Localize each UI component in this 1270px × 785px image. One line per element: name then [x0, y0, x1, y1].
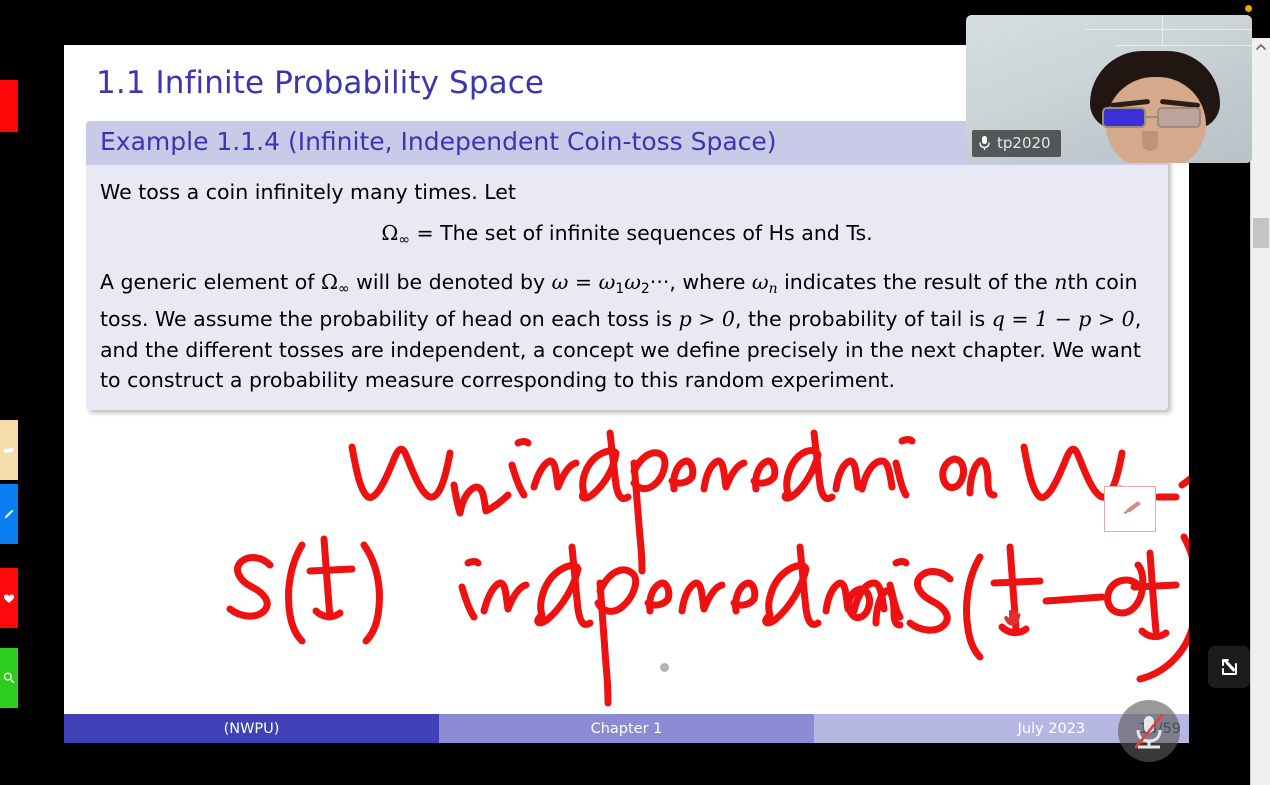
pen-in-frame-icon — [1217, 655, 1241, 679]
scrollbar-thumb[interactable] — [1253, 218, 1269, 248]
para-part-1: A generic element of — [100, 270, 321, 294]
example-body: We toss a coin infinitely many times. Le… — [86, 165, 1168, 410]
example-line-1: We toss a coin infinitely many times. Le… — [100, 177, 1154, 208]
participant-name-label: tp2020 — [997, 134, 1051, 152]
footer-institution: (NWPU) — [64, 714, 439, 743]
para-part-4: indicates the result of the — [778, 270, 1055, 294]
left-tool-rail — [0, 0, 18, 785]
page-title: 1.1 Infinite Probability Space — [96, 65, 544, 101]
omega-symbol: Ω — [381, 221, 398, 245]
omega-n-sub: n — [769, 281, 778, 297]
example-paragraph: A generic element of Ω∞ will be denoted … — [100, 267, 1154, 396]
omega-inline-subscript: ∞ — [338, 281, 350, 297]
omega-equation-rest: = The set of infinite sequences of Hs an… — [410, 221, 873, 245]
eraser-icon — [2, 443, 16, 457]
eraser-tool[interactable] — [0, 420, 18, 480]
omega-eq: ω = ω — [552, 270, 616, 294]
ceiling-line-3 — [1162, 15, 1163, 45]
ellipsis: ··· — [650, 270, 670, 294]
magnifier-icon — [2, 671, 16, 685]
footer-chapter: Chapter 1 — [439, 714, 814, 743]
vertical-scrollbar[interactable] — [1250, 38, 1270, 785]
recording-indicator — [1245, 5, 1252, 12]
hand-cursor — [1000, 604, 1026, 630]
p-greater-zero: p > 0 — [679, 307, 735, 331]
glasses-lens-right — [1157, 107, 1201, 128]
favorite-tool[interactable] — [0, 568, 18, 628]
pen-preview-box[interactable] — [1104, 486, 1156, 532]
omega-equation: Ω∞ = The set of infinite sequences of Hs… — [100, 218, 1154, 255]
slide-footer: (NWPU) Chapter 1 July 2023 13/59 — [64, 714, 1189, 743]
para-part-6: , the probability of tail is — [735, 307, 992, 331]
scroll-up-button[interactable] — [1251, 38, 1270, 56]
zoom-tool[interactable] — [0, 648, 18, 708]
person-glasses — [1102, 107, 1212, 129]
ink-dot-artifact — [660, 663, 669, 672]
footer-date: July 2023 — [1018, 721, 1086, 737]
example-block: Example 1.1.4 (Infinite, Independent Coi… — [86, 121, 1168, 410]
omega-1-sub: 1 — [615, 281, 624, 297]
omega-n: ω — [752, 270, 769, 294]
mic-muted-badge[interactable] — [1118, 700, 1180, 762]
pen-tool[interactable] — [0, 484, 18, 544]
ceiling-line-2 — [1116, 45, 1252, 46]
chevron-up-icon — [1256, 43, 1266, 51]
record-stop-tool[interactable] — [0, 80, 18, 132]
omega-2-sub: 2 — [641, 281, 650, 297]
heart-icon — [2, 591, 16, 605]
annotate-button[interactable] — [1208, 646, 1250, 688]
nth-italic: n — [1054, 270, 1067, 294]
para-part-2: will be denoted by — [350, 270, 552, 294]
q-equation: q = 1 − p > 0 — [992, 307, 1135, 331]
person-nose — [1142, 131, 1158, 151]
omega-subscript: ∞ — [398, 231, 410, 247]
microphone-muted-icon — [1132, 711, 1166, 751]
pen-preview-icon — [1105, 487, 1157, 533]
pen-icon — [2, 507, 16, 521]
microphone-icon — [978, 135, 991, 151]
glasses-bridge — [1146, 116, 1157, 118]
omega-2: ω — [624, 270, 641, 294]
omega-symbol-inline: Ω — [321, 270, 338, 294]
participant-video — [1084, 51, 1244, 163]
ceiling-line-1 — [1086, 29, 1252, 30]
presentation-screen: 1.1 Infinite Probability Space Example 1… — [0, 0, 1270, 785]
webcam-overlay[interactable]: tp2020 — [966, 15, 1252, 163]
participant-name-badge: tp2020 — [972, 130, 1061, 157]
glasses-lens-left — [1102, 107, 1146, 128]
para-part-3: , where — [669, 270, 752, 294]
